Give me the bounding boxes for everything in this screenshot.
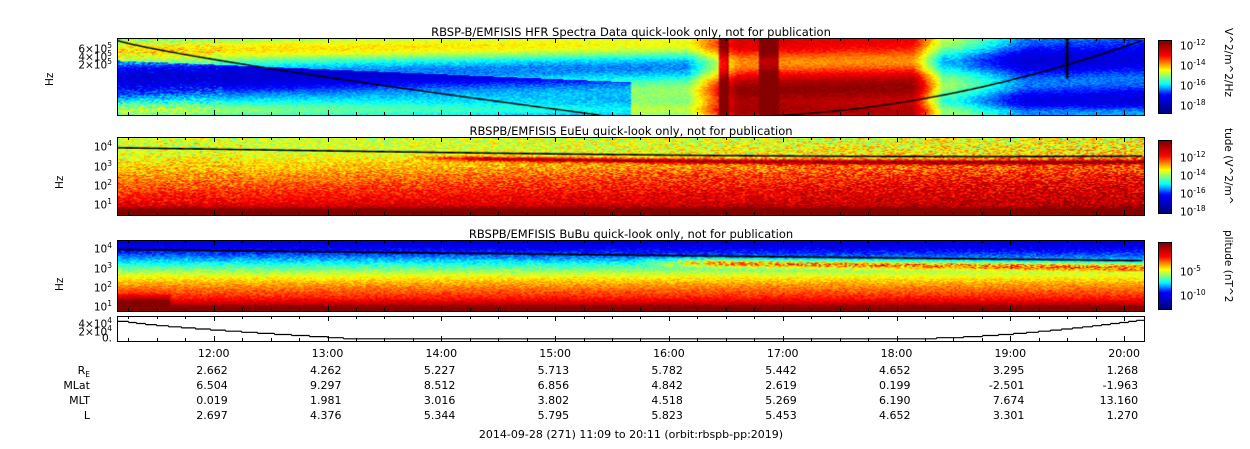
x-minor-tickmark xyxy=(185,137,186,140)
x-minor-tickmark xyxy=(271,38,272,41)
x-minor-tickmark xyxy=(1010,240,1011,243)
x-minor-tickmark xyxy=(754,38,755,41)
x-minor-tickmark xyxy=(697,240,698,243)
x-minor-tickmark xyxy=(840,240,841,243)
x-minor-tickmark xyxy=(498,338,499,341)
y-tick-bubu-3: 101 xyxy=(64,299,112,314)
x-minor-tickmark xyxy=(783,316,784,319)
colorbar-tick-eueu-3: 10-18 xyxy=(1180,204,1206,219)
table-cell: 3.301 xyxy=(948,409,1024,422)
x-minor-tickmark xyxy=(527,316,528,319)
x-tick-label-6: 18:00 xyxy=(867,347,927,360)
x-minor-tickmark xyxy=(299,137,300,140)
x-minor-tickmark xyxy=(640,338,641,341)
table-cell: 1.270 xyxy=(1062,409,1138,422)
x-minor-tickmark xyxy=(214,137,215,140)
x-minor-tickmark xyxy=(328,38,329,41)
x-minor-tickmark xyxy=(953,316,954,319)
x-minor-tickmark xyxy=(897,137,898,140)
x-minor-tickmark xyxy=(783,112,784,115)
table-cell: 4.262 xyxy=(266,364,342,377)
table-cell: 0.019 xyxy=(152,394,228,407)
x-minor-tickmark xyxy=(669,38,670,41)
x-minor-tickmark xyxy=(669,137,670,140)
x-minor-tickmark xyxy=(271,338,272,341)
x-minor-tickmark xyxy=(982,308,983,311)
x-minor-tickmark xyxy=(356,316,357,319)
x-minor-tickmark xyxy=(925,38,926,41)
x-minor-tickmark xyxy=(242,316,243,319)
table-cell: 4.842 xyxy=(607,379,683,392)
x-minor-tickmark xyxy=(384,212,385,215)
y-tick-eueu-3: 101 xyxy=(64,197,112,212)
x-minor-tickmark xyxy=(1067,137,1068,140)
x-minor-tickmark xyxy=(1096,338,1097,341)
x-minor-tickmark xyxy=(128,240,129,243)
table-cell: 5.713 xyxy=(493,364,569,377)
x-minor-tickmark xyxy=(1010,212,1011,215)
x-minor-tickmark xyxy=(470,137,471,140)
x-minor-tickmark xyxy=(498,38,499,41)
x-minor-tickmark xyxy=(242,240,243,243)
x-minor-tickmark xyxy=(299,316,300,319)
density-line xyxy=(118,317,1144,341)
x-minor-tickmark xyxy=(925,316,926,319)
x-minor-tickmark xyxy=(470,308,471,311)
x-minor-tickmark xyxy=(840,338,841,341)
x-minor-tickmark xyxy=(754,240,755,243)
x-minor-tickmark xyxy=(413,240,414,243)
x-tick-label-0: 12:00 xyxy=(184,347,244,360)
x-minor-tickmark xyxy=(1010,112,1011,115)
x-minor-tickmark xyxy=(840,38,841,41)
x-minor-tickmark xyxy=(897,112,898,115)
x-minor-tickmark xyxy=(356,308,357,311)
x-minor-tickmark xyxy=(612,338,613,341)
x-minor-tickmark xyxy=(1010,316,1011,319)
x-minor-tickmark xyxy=(384,137,385,140)
x-minor-tickmark xyxy=(356,338,357,341)
x-minor-tickmark xyxy=(242,38,243,41)
x-minor-tickmark xyxy=(271,308,272,311)
x-minor-tickmark xyxy=(242,338,243,341)
x-minor-tickmark xyxy=(783,137,784,140)
x-minor-tickmark xyxy=(640,308,641,311)
x-minor-tickmark xyxy=(328,308,329,311)
x-minor-tickmark xyxy=(185,308,186,311)
table-row-label-r: RE xyxy=(20,364,90,379)
y-tick-bubu-2: 102 xyxy=(64,280,112,295)
y-tick-eueu-0: 104 xyxy=(64,139,112,154)
x-minor-tickmark xyxy=(470,240,471,243)
x-minor-tickmark xyxy=(669,308,670,311)
x-minor-tickmark xyxy=(441,112,442,115)
x-minor-tickmark xyxy=(441,38,442,41)
x-tick-label-3: 15:00 xyxy=(525,347,585,360)
x-minor-tickmark xyxy=(328,316,329,319)
x-minor-tickmark xyxy=(669,112,670,115)
x-minor-tickmark xyxy=(271,212,272,215)
x-minor-tickmark xyxy=(584,316,585,319)
x-minor-tickmark xyxy=(726,316,727,319)
x-minor-tickmark xyxy=(555,212,556,215)
x-minor-tickmark xyxy=(1124,338,1125,341)
x-minor-tickmark xyxy=(840,308,841,311)
x-minor-tickmark xyxy=(157,240,158,243)
x-minor-tickmark xyxy=(413,308,414,311)
x-minor-tickmark xyxy=(328,212,329,215)
x-minor-tickmark xyxy=(897,308,898,311)
x-minor-tickmark xyxy=(498,316,499,319)
table-cell: 4.652 xyxy=(835,409,911,422)
x-minor-tickmark xyxy=(413,112,414,115)
x-minor-tickmark xyxy=(470,112,471,115)
x-minor-tickmark xyxy=(527,38,528,41)
x-minor-tickmark xyxy=(840,316,841,319)
spectrogram-bubu[interactable] xyxy=(117,240,1145,312)
x-minor-tickmark xyxy=(384,338,385,341)
x-minor-tickmark xyxy=(868,316,869,319)
x-minor-tickmark xyxy=(527,240,528,243)
x-minor-tickmark xyxy=(840,137,841,140)
x-minor-tickmark xyxy=(669,316,670,319)
x-minor-tickmark xyxy=(811,112,812,115)
x-minor-tickmark xyxy=(498,240,499,243)
x-minor-tickmark xyxy=(953,308,954,311)
x-minor-tickmark xyxy=(185,240,186,243)
x-minor-tickmark xyxy=(498,112,499,115)
x-minor-tickmark xyxy=(1010,338,1011,341)
x-minor-tickmark xyxy=(640,112,641,115)
x-minor-tickmark xyxy=(470,338,471,341)
x-minor-tickmark xyxy=(356,212,357,215)
table-cell: 6.190 xyxy=(835,394,911,407)
table-row-label-l: L xyxy=(20,409,90,422)
x-minor-tickmark xyxy=(299,38,300,41)
x-minor-tickmark xyxy=(128,212,129,215)
x-minor-tickmark xyxy=(783,308,784,311)
x-minor-tickmark xyxy=(584,338,585,341)
table-cell: 1.981 xyxy=(266,394,342,407)
x-minor-tickmark xyxy=(299,212,300,215)
x-minor-tickmark xyxy=(1039,112,1040,115)
x-minor-tickmark xyxy=(697,338,698,341)
x-minor-tickmark xyxy=(328,240,329,243)
x-minor-tickmark xyxy=(413,338,414,341)
x-minor-tickmark xyxy=(697,112,698,115)
x-minor-tickmark xyxy=(441,338,442,341)
x-minor-tickmark xyxy=(413,316,414,319)
x-minor-tickmark xyxy=(1010,38,1011,41)
x-minor-tickmark xyxy=(868,212,869,215)
x-minor-tickmark xyxy=(584,137,585,140)
table-cell: 3.016 xyxy=(379,394,455,407)
x-minor-tickmark xyxy=(157,212,158,215)
x-minor-tickmark xyxy=(1067,308,1068,311)
x-minor-tickmark xyxy=(925,212,926,215)
x-minor-tickmark xyxy=(1039,38,1040,41)
x-minor-tickmark xyxy=(953,137,954,140)
table-cell: 2.697 xyxy=(152,409,228,422)
x-minor-tickmark xyxy=(185,316,186,319)
table-cell: 2.662 xyxy=(152,364,228,377)
x-minor-tickmark xyxy=(299,112,300,115)
x-minor-tickmark xyxy=(185,338,186,341)
table-cell: 1.268 xyxy=(1062,364,1138,377)
table-cell: 6.856 xyxy=(493,379,569,392)
x-minor-tickmark xyxy=(555,137,556,140)
x-minor-tickmark xyxy=(157,112,158,115)
x-minor-tickmark xyxy=(214,338,215,341)
colorbar-eueu xyxy=(1158,140,1172,214)
spectrogram-eueu[interactable] xyxy=(117,137,1145,216)
panel-title-hfr: RBSP-B/EMFISIS HFR Spectra Data quick-lo… xyxy=(117,25,1145,39)
x-minor-tickmark xyxy=(811,338,812,341)
x-minor-tickmark xyxy=(754,112,755,115)
x-minor-tickmark xyxy=(726,137,727,140)
x-minor-tickmark xyxy=(1124,240,1125,243)
x-minor-tickmark xyxy=(527,338,528,341)
x-minor-tickmark xyxy=(584,112,585,115)
x-minor-tickmark xyxy=(1010,308,1011,311)
x-minor-tickmark xyxy=(726,308,727,311)
x-minor-tickmark xyxy=(242,212,243,215)
colorbar-tick-eueu-2: 10-16 xyxy=(1180,186,1206,201)
x-minor-tickmark xyxy=(811,316,812,319)
x-minor-tickmark xyxy=(953,240,954,243)
x-minor-tickmark xyxy=(754,316,755,319)
x-minor-tickmark xyxy=(384,308,385,311)
table-cell: 5.823 xyxy=(607,409,683,422)
colorbar-tick-hfr-0: 10-12 xyxy=(1180,38,1206,53)
y-tick-bubu-0: 104 xyxy=(64,241,112,256)
x-minor-tickmark xyxy=(441,137,442,140)
table-cell: 5.782 xyxy=(607,364,683,377)
table-row-label-mlt: MLT xyxy=(20,394,90,407)
x-minor-tickmark xyxy=(982,240,983,243)
x-minor-tickmark xyxy=(811,212,812,215)
x-minor-tickmark xyxy=(925,137,926,140)
x-minor-tickmark xyxy=(584,212,585,215)
x-minor-tickmark xyxy=(953,112,954,115)
x-minor-tickmark xyxy=(697,38,698,41)
x-minor-tickmark xyxy=(1096,316,1097,319)
x-minor-tickmark xyxy=(811,240,812,243)
colorbar-tick-eueu-0: 10-12 xyxy=(1180,150,1206,165)
x-minor-tickmark xyxy=(555,316,556,319)
x-minor-tickmark xyxy=(527,112,528,115)
x-minor-tickmark xyxy=(1096,38,1097,41)
x-minor-tickmark xyxy=(413,137,414,140)
x-minor-tickmark xyxy=(640,212,641,215)
x-minor-tickmark xyxy=(726,240,727,243)
x-minor-tickmark xyxy=(868,137,869,140)
x-minor-tickmark xyxy=(441,240,442,243)
x-minor-tickmark xyxy=(612,137,613,140)
table-cell: 5.344 xyxy=(379,409,455,422)
x-minor-tickmark xyxy=(1124,137,1125,140)
x-minor-tickmark xyxy=(1067,112,1068,115)
table-cell: 4.652 xyxy=(835,364,911,377)
x-minor-tickmark xyxy=(982,316,983,319)
x-minor-tickmark xyxy=(214,212,215,215)
x-minor-tickmark xyxy=(612,112,613,115)
x-minor-tickmark xyxy=(811,38,812,41)
x-minor-tickmark xyxy=(897,38,898,41)
x-minor-tickmark xyxy=(242,308,243,311)
x-minor-tickmark xyxy=(498,308,499,311)
x-minor-tickmark xyxy=(214,38,215,41)
x-tick-label-2: 14:00 xyxy=(411,347,471,360)
x-minor-tickmark xyxy=(441,308,442,311)
spectrogram-hfr-image xyxy=(118,39,1144,115)
x-minor-tickmark xyxy=(413,38,414,41)
x-minor-tickmark xyxy=(1096,137,1097,140)
x-minor-tickmark xyxy=(1096,112,1097,115)
x-minor-tickmark xyxy=(384,38,385,41)
table-cell: 5.269 xyxy=(721,394,797,407)
x-minor-tickmark xyxy=(1067,240,1068,243)
colorbar-tick-bubu-0: 10-5 xyxy=(1180,264,1201,279)
x-minor-tickmark xyxy=(299,240,300,243)
x-minor-tickmark xyxy=(1067,38,1068,41)
x-minor-tickmark xyxy=(612,240,613,243)
x-minor-tickmark xyxy=(242,137,243,140)
x-minor-tickmark xyxy=(754,137,755,140)
x-minor-tickmark xyxy=(612,316,613,319)
x-minor-tickmark xyxy=(754,338,755,341)
x-minor-tickmark xyxy=(897,240,898,243)
y-tick-line-2: 0. xyxy=(60,330,112,345)
x-minor-tickmark xyxy=(1096,240,1097,243)
colorbar-hfr xyxy=(1158,40,1172,114)
colorbar-bubu xyxy=(1158,242,1172,310)
x-minor-tickmark xyxy=(214,308,215,311)
x-minor-tickmark xyxy=(271,240,272,243)
x-minor-tickmark xyxy=(328,112,329,115)
colorbar-tick-bubu-1: 10-10 xyxy=(1180,288,1206,303)
x-minor-tickmark xyxy=(584,240,585,243)
x-minor-tickmark xyxy=(982,338,983,341)
x-minor-tickmark xyxy=(925,240,926,243)
x-minor-tickmark xyxy=(697,308,698,311)
x-minor-tickmark xyxy=(413,212,414,215)
x-minor-tickmark xyxy=(299,308,300,311)
x-minor-tickmark xyxy=(697,316,698,319)
x-minor-tickmark xyxy=(271,112,272,115)
x-minor-tickmark xyxy=(1039,338,1040,341)
x-minor-tickmark xyxy=(1039,240,1040,243)
table-cell: 3.802 xyxy=(493,394,569,407)
x-minor-tickmark xyxy=(840,112,841,115)
x-minor-tickmark xyxy=(1067,212,1068,215)
x-minor-tickmark xyxy=(242,112,243,115)
x-minor-tickmark xyxy=(214,316,215,319)
x-minor-tickmark xyxy=(470,316,471,319)
colorbar-label-bubu: plitude (nT^2 xyxy=(1222,230,1234,302)
x-minor-tickmark xyxy=(897,338,898,341)
x-minor-tickmark xyxy=(1124,112,1125,115)
x-minor-tickmark xyxy=(1039,137,1040,140)
x-minor-tickmark xyxy=(1039,212,1040,215)
x-minor-tickmark xyxy=(128,112,129,115)
x-minor-tickmark xyxy=(185,112,186,115)
x-minor-tickmark xyxy=(1096,308,1097,311)
x-minor-tickmark xyxy=(982,137,983,140)
x-minor-tickmark xyxy=(441,212,442,215)
table-cell: 7.674 xyxy=(948,394,1024,407)
x-minor-tickmark xyxy=(555,38,556,41)
spectrogram-bubu-image xyxy=(118,241,1144,311)
x-minor-tickmark xyxy=(584,38,585,41)
x-minor-tickmark xyxy=(982,212,983,215)
x-minor-tickmark xyxy=(783,38,784,41)
x-minor-tickmark xyxy=(982,38,983,41)
x-minor-tickmark xyxy=(128,316,129,319)
x-minor-tickmark xyxy=(498,212,499,215)
table-cell: 6.504 xyxy=(152,379,228,392)
x-minor-tickmark xyxy=(612,38,613,41)
x-minor-tickmark xyxy=(128,308,129,311)
x-minor-tickmark xyxy=(527,212,528,215)
x-minor-tickmark xyxy=(1067,338,1068,341)
x-minor-tickmark xyxy=(157,316,158,319)
x-minor-tickmark xyxy=(726,112,727,115)
x-minor-tickmark xyxy=(953,338,954,341)
x-minor-tickmark xyxy=(754,308,755,311)
colorbar-tick-hfr-2: 10-16 xyxy=(1180,78,1206,93)
x-minor-tickmark xyxy=(128,38,129,41)
table-cell: 5.453 xyxy=(721,409,797,422)
x-minor-tickmark xyxy=(697,137,698,140)
panel-title-bubu: RBSPB/EMFISIS BuBu quick-look only, not … xyxy=(117,227,1145,241)
x-minor-tickmark xyxy=(384,316,385,319)
x-minor-tickmark xyxy=(214,112,215,115)
table-cell: 4.518 xyxy=(607,394,683,407)
x-minor-tickmark xyxy=(328,338,329,341)
x-tick-label-8: 20:00 xyxy=(1094,347,1154,360)
x-minor-tickmark xyxy=(356,38,357,41)
table-cell: 3.295 xyxy=(948,364,1024,377)
table-cell: 8.512 xyxy=(379,379,455,392)
x-minor-tickmark xyxy=(271,316,272,319)
x-minor-tickmark xyxy=(640,316,641,319)
spectrogram-hfr[interactable] xyxy=(117,38,1145,116)
x-minor-tickmark xyxy=(128,137,129,140)
x-tick-label-1: 13:00 xyxy=(298,347,358,360)
x-minor-tickmark xyxy=(783,240,784,243)
x-minor-tickmark xyxy=(783,212,784,215)
x-minor-tickmark xyxy=(811,308,812,311)
x-minor-tickmark xyxy=(384,240,385,243)
x-minor-tickmark xyxy=(697,212,698,215)
x-minor-tickmark xyxy=(299,338,300,341)
x-minor-tickmark xyxy=(157,338,158,341)
x-minor-tickmark xyxy=(925,338,926,341)
x-minor-tickmark xyxy=(555,338,556,341)
table-cell: -1.963 xyxy=(1062,379,1138,392)
x-tick-label-4: 16:00 xyxy=(639,347,699,360)
x-minor-tickmark xyxy=(868,112,869,115)
table-cell: -2.501 xyxy=(948,379,1024,392)
x-minor-tickmark xyxy=(669,212,670,215)
x-minor-tickmark xyxy=(953,38,954,41)
x-minor-tickmark xyxy=(754,212,755,215)
x-minor-tickmark xyxy=(868,240,869,243)
x-minor-tickmark xyxy=(953,212,954,215)
x-minor-tickmark xyxy=(555,308,556,311)
x-minor-tickmark xyxy=(897,212,898,215)
